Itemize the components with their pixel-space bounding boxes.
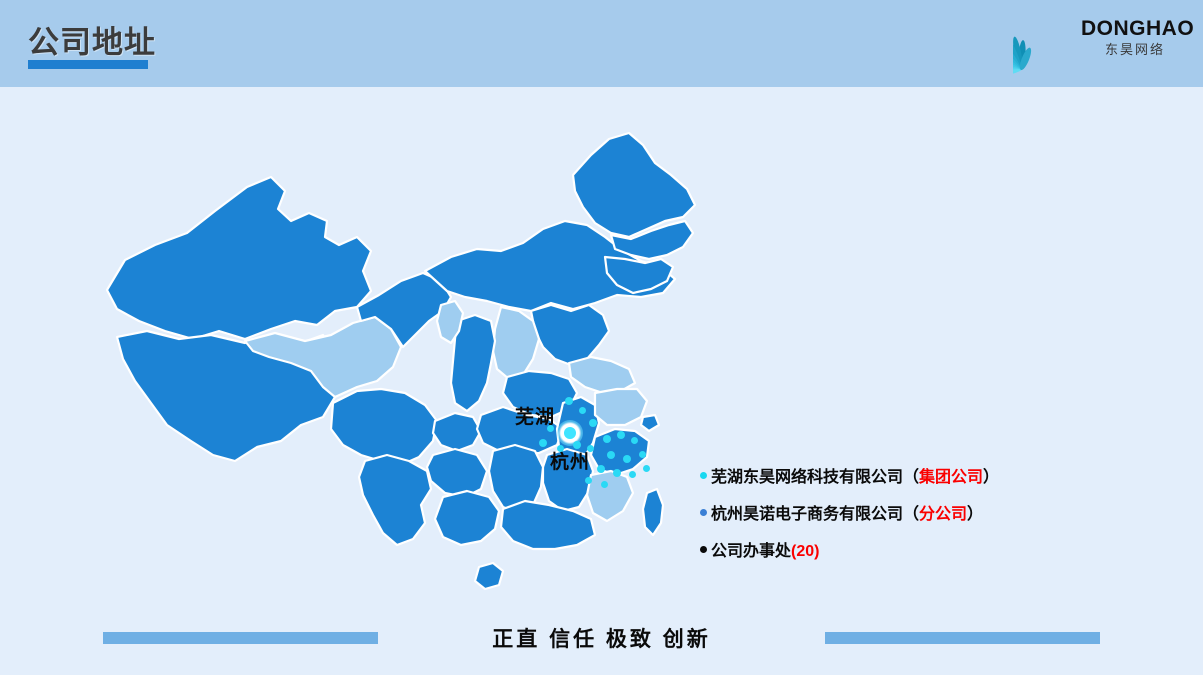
map-marker-office[interactable] (547, 425, 554, 432)
legend-bullet-black (700, 546, 707, 553)
map-marker-office[interactable] (539, 439, 547, 447)
legend-item-branch-company: 杭州昊诺电子商务有限公司（分公司） (700, 500, 1170, 537)
province-xinjiang (107, 177, 371, 339)
page-title: 公司地址 (28, 17, 156, 62)
province-sichuan (331, 389, 437, 465)
legend-paren-open: （ (903, 506, 919, 523)
province-shanghai (641, 415, 659, 431)
province-chongqing (433, 413, 481, 451)
legend-paren-close: ） (983, 469, 999, 486)
province-hebei (531, 305, 609, 365)
province-hainan (475, 563, 503, 589)
company-logo: DONGHAO 东昊网络 (1013, 6, 1189, 78)
legend: 芜湖东昊网络科技有限公司（集团公司） 杭州昊诺电子商务有限公司（分公司） 公司办… (700, 463, 1170, 574)
map-marker-office[interactable] (601, 481, 608, 488)
legend-paren-close: ) (814, 543, 819, 560)
title-underline (28, 60, 148, 69)
legend-bullet-cyan (700, 472, 707, 479)
map-marker-office[interactable] (589, 419, 597, 427)
legend-paren-open: （ (903, 469, 919, 486)
province-shandong (569, 357, 635, 393)
map-marker-office[interactable] (617, 431, 625, 439)
map-marker-office[interactable] (573, 441, 581, 449)
legend-tag: 20 (796, 543, 814, 560)
logo-chinese-name: 东昊网络 (1081, 41, 1189, 59)
legend-tag: 分公司 (919, 506, 967, 523)
map-marker-office[interactable] (613, 469, 621, 477)
map-marker-office[interactable] (639, 451, 646, 458)
legend-paren-close: ） (967, 506, 983, 523)
legend-bullet-blue (700, 509, 707, 516)
province-fujian (587, 471, 633, 521)
legend-item-group-company: 芜湖东昊网络科技有限公司（集团公司） (700, 463, 1170, 500)
slide-header: 公司地址 (0, 0, 1203, 87)
map-label-hangzhou: 杭州 (550, 447, 590, 474)
legend-tag: 集团公司 (919, 469, 983, 486)
legend-item-offices: 公司办事处(20) (700, 537, 1170, 574)
legend-label: 公司办事处 (711, 543, 791, 560)
map-marker-office[interactable] (643, 465, 650, 472)
province-taiwan (643, 489, 663, 535)
province-guizhou (427, 449, 487, 497)
footer-slogan: 正直 信任 极致 创新 (0, 623, 1203, 653)
map-marker-office[interactable] (587, 445, 594, 452)
logo-english-name: DONGHAO (1081, 17, 1189, 41)
province-jiangsu (595, 389, 647, 425)
province-guangdong (501, 501, 595, 549)
map-marker-office[interactable] (629, 471, 636, 478)
slide-canvas: 公司地址 (0, 0, 1203, 675)
china-map: 芜湖 杭州 (95, 125, 715, 615)
map-marker-office[interactable] (603, 435, 611, 443)
feather-fan-icon (1013, 8, 1083, 76)
map-marker-office[interactable] (623, 455, 631, 463)
province-yunnan (359, 455, 431, 545)
province-guangxi (435, 491, 499, 545)
province-heilongjiang (573, 133, 695, 237)
map-marker-office[interactable] (597, 465, 605, 473)
map-marker-office[interactable] (607, 451, 615, 459)
map-marker-office[interactable] (557, 445, 564, 452)
china-map-svg (95, 125, 715, 615)
map-marker-office[interactable] (565, 397, 573, 405)
legend-label: 芜湖东昊网络科技有限公司 (711, 469, 903, 486)
map-marker-office[interactable] (631, 437, 638, 444)
map-marker-office[interactable] (585, 477, 592, 484)
map-marker-office[interactable] (579, 407, 586, 414)
legend-label: 杭州昊诺电子商务有限公司 (711, 506, 903, 523)
logo-text-block: DONGHAO 东昊网络 (1081, 17, 1189, 59)
